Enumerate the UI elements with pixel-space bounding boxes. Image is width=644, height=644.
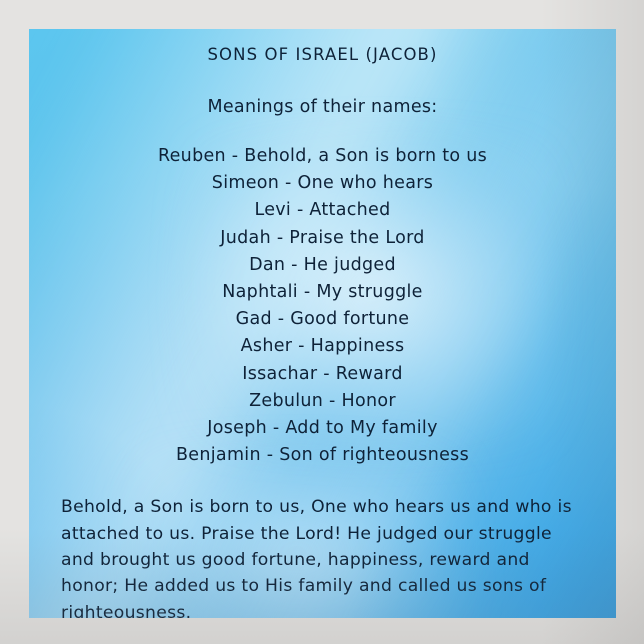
name-entry: Joseph - Add to My family (29, 415, 616, 442)
name-entry: Judah - Praise the Lord (29, 225, 616, 252)
name-entry: Asher - Happiness (29, 333, 616, 360)
name-entry: Naphtali - My struggle (29, 279, 616, 306)
poster-title: SONS OF ISRAEL (JACOB) (29, 44, 616, 66)
poster-artwork: SONS OF ISRAEL (JACOB) Meanings of their… (29, 29, 616, 618)
name-entry: Issachar - Reward (29, 361, 616, 388)
name-entry: Levi - Attached (29, 197, 616, 224)
name-entry: Dan - He judged (29, 252, 616, 279)
poster-subtitle: Meanings of their names: (29, 95, 616, 119)
name-entry: Reuben - Behold, a Son is born to us (29, 143, 616, 170)
poster-text-content: SONS OF ISRAEL (JACOB) Meanings of their… (29, 29, 616, 618)
closing-paragraph: Behold, a Son is born to us, One who hea… (61, 494, 590, 618)
sons-names-list: Reuben - Behold, a Son is born to us Sim… (29, 143, 616, 469)
name-entry: Simeon - One who hears (29, 170, 616, 197)
name-entry: Benjamin - Son of righteousness (29, 442, 616, 469)
poster-frame: SONS OF ISRAEL (JACOB) Meanings of their… (0, 0, 644, 644)
name-entry: Zebulun - Honor (29, 388, 616, 415)
name-entry: Gad - Good fortune (29, 306, 616, 333)
